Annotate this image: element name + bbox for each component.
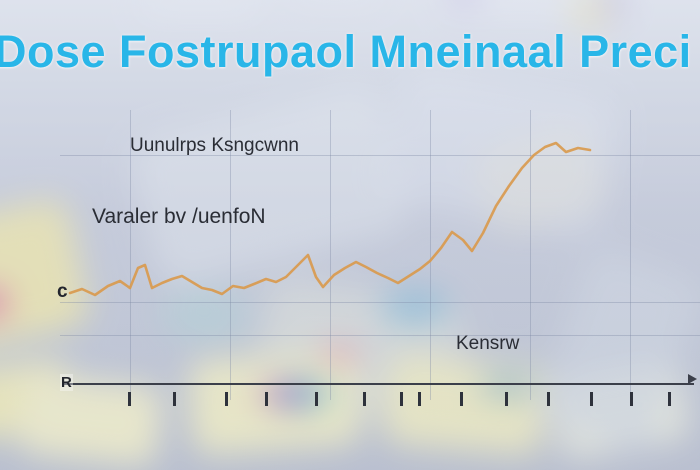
annotation-label-middle: Varaler bv /uenfoN bbox=[92, 205, 266, 229]
x-axis-tick bbox=[460, 392, 463, 406]
x-axis-tick bbox=[315, 392, 318, 406]
annotation-label-top: Uunulrps Ksngcwnn bbox=[130, 135, 299, 157]
x-axis-tick bbox=[400, 392, 403, 406]
x-axis-tick bbox=[590, 392, 593, 406]
x-axis-tick bbox=[630, 392, 633, 406]
annotation-label-lower: Kensrw bbox=[456, 333, 519, 355]
x-axis-origin-label: R bbox=[60, 374, 73, 391]
line-series-chart bbox=[0, 0, 700, 470]
x-axis-tick bbox=[418, 392, 421, 406]
x-axis-tick bbox=[547, 392, 550, 406]
x-axis-tick bbox=[505, 392, 508, 406]
x-axis-tick bbox=[128, 392, 131, 406]
x-axis-tick bbox=[225, 392, 228, 406]
x-axis-tick bbox=[173, 392, 176, 406]
x-axis-tick bbox=[265, 392, 268, 406]
chart-screenshot: Dose Fostrupaol Mneinaal Preci R Uunulrp… bbox=[0, 0, 700, 470]
x-axis-tick bbox=[363, 392, 366, 406]
x-axis-tick bbox=[668, 392, 671, 406]
y-axis-mark-label: c bbox=[57, 281, 68, 303]
x-axis-arrow-icon bbox=[688, 374, 697, 384]
x-axis-line bbox=[62, 383, 694, 385]
